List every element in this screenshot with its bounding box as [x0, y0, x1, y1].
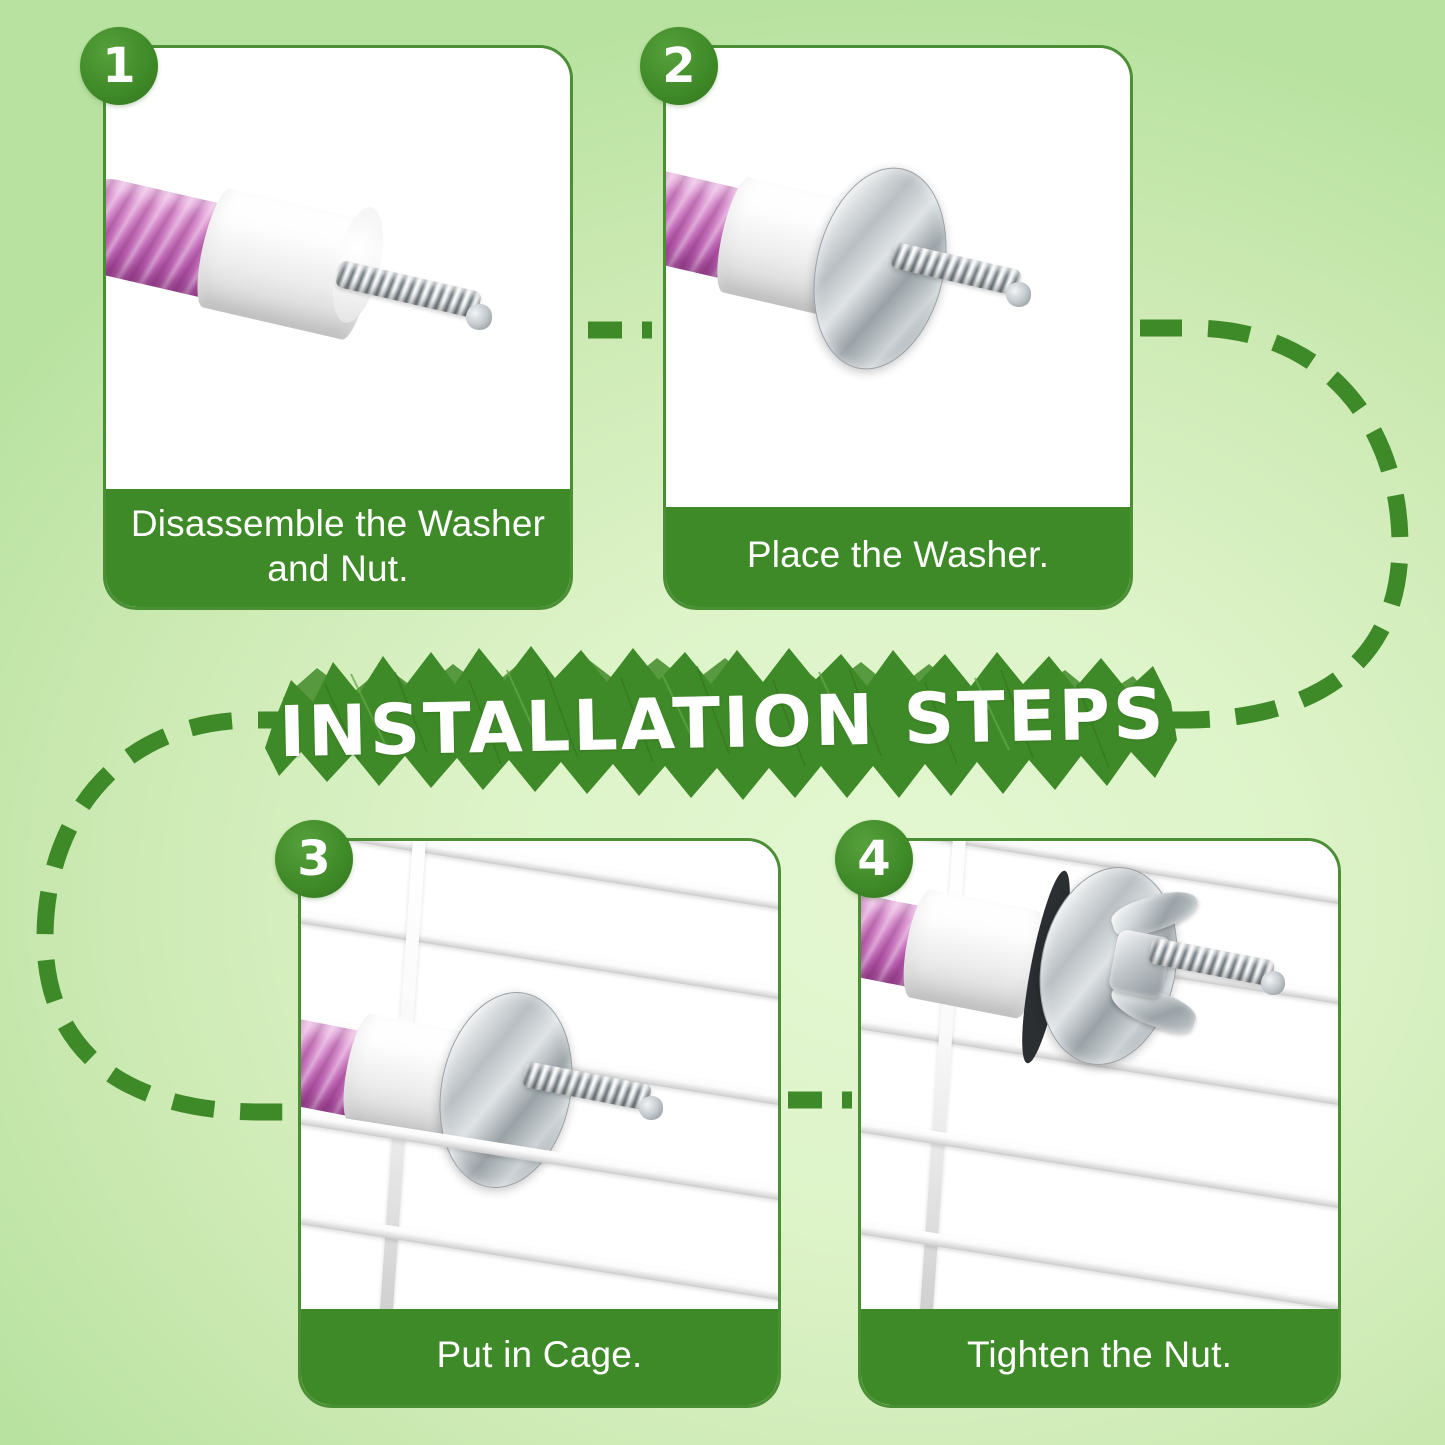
bolt-tip — [466, 304, 492, 330]
bolt-tip — [1261, 971, 1285, 995]
step-badge-3: 3 — [275, 820, 353, 898]
step-3-caption: Put in Cage. — [301, 1309, 778, 1405]
step-2-photo — [666, 48, 1130, 507]
step-card-4[interactable]: Tighten the Nut. — [858, 838, 1341, 1408]
bolt-tip — [639, 1096, 663, 1120]
cage-bar-horizontal-front — [301, 1207, 778, 1307]
step-badge-1: 1 — [80, 27, 158, 105]
step-card-3[interactable]: Put in Cage. — [298, 838, 781, 1408]
step-1-photo — [106, 48, 570, 489]
cage-bar-horizontal — [301, 841, 778, 917]
cage-bar-horizontal — [301, 907, 778, 1006]
step-badge-2: 2 — [640, 27, 718, 105]
step-card-2[interactable]: Place the Washer. — [663, 45, 1133, 610]
step-badge-4: 4 — [835, 820, 913, 898]
step-card-1[interactable]: Disassemble the Washer and Nut. — [103, 45, 573, 610]
step-1-caption: Disassemble the Washer and Nut. — [106, 489, 570, 607]
title-banner: INSTALLATION STEPS — [255, 628, 1190, 818]
installation-steps-infographic: INSTALLATION STEPS Disassemble the Washe… — [0, 0, 1445, 1445]
bolt-tip — [1006, 282, 1031, 307]
step-4-caption: Tighten the Nut. — [861, 1309, 1338, 1405]
step-3-photo — [301, 841, 778, 1309]
step-2-caption: Place the Washer. — [666, 507, 1130, 607]
step-4-photo — [861, 841, 1338, 1309]
